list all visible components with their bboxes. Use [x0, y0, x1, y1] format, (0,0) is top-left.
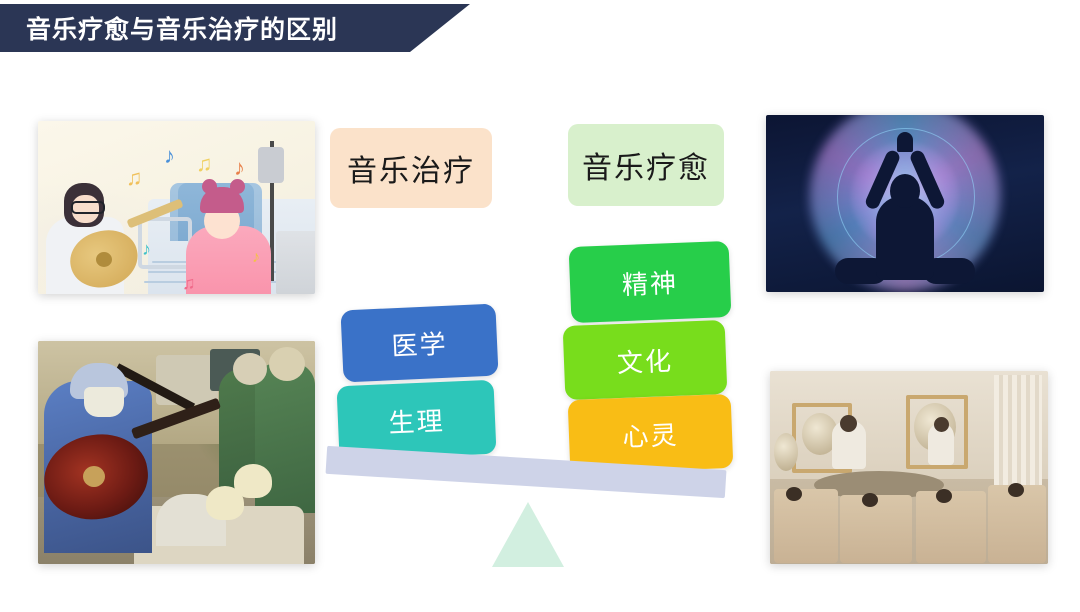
block-spirit: 精神 [569, 241, 732, 323]
music-note-icon: ♪ [252, 249, 260, 267]
glasses-icon [71, 201, 105, 214]
music-note-icon: ♫ [182, 273, 196, 294]
guitar-sound-hole [83, 466, 105, 487]
participant-head [936, 489, 952, 503]
meditation-canvas [766, 115, 1044, 292]
page-title: 音乐疗愈与音乐治疗的区别 [26, 10, 338, 46]
sound-healer-head [840, 415, 857, 432]
participant-mat [840, 495, 912, 563]
surgeon-head [269, 347, 305, 381]
music-note-icon: ♪ [164, 143, 175, 169]
header-card-music-healing: 音乐疗愈 [568, 124, 724, 206]
iv-bag [258, 147, 284, 183]
image-sound-bath-session [770, 371, 1048, 564]
guitar-sound-hole [96, 252, 112, 267]
operating-room-canvas [38, 341, 315, 564]
assistant-head [934, 417, 949, 432]
sound-bath-canvas [770, 371, 1048, 564]
music-note-icon: ♪ [142, 239, 151, 260]
participant-mat [774, 489, 838, 563]
face-mask-icon [84, 387, 124, 417]
music-note-icon: ♫ [126, 165, 143, 191]
image-operating-room-guitar [38, 341, 315, 564]
music-note-icon: ♫ [196, 151, 213, 177]
surgical-glove [234, 464, 272, 498]
participant-mat [916, 491, 986, 563]
header-card-music-treatment: 音乐治疗 [330, 128, 492, 208]
block-medicine: 医学 [340, 304, 498, 383]
hospital-illustration-canvas: ♪ ♫ ♫ ♪ ♪ ♫ ♪ [38, 121, 315, 294]
balance-fulcrum-triangle [492, 502, 564, 567]
window-curtain [994, 375, 1042, 487]
block-culture: 文化 [563, 320, 728, 400]
meditator-hands-namaste [897, 132, 913, 152]
surgeon-head [233, 353, 267, 385]
comparison-balance-diagram: 音乐治疗 音乐疗愈 医学 生理 精神 文化 心灵 [320, 110, 760, 590]
meditator-head [890, 174, 920, 208]
participant-head [862, 493, 878, 507]
image-meditation-energy [766, 115, 1044, 292]
image-hospital-music-therapy: ♪ ♫ ♫ ♪ ♪ ♫ ♪ [38, 121, 315, 294]
meditator-torso [876, 196, 934, 280]
participant-head [1008, 483, 1024, 497]
slide-title-banner: 音乐疗愈与音乐治疗的区别 [0, 4, 470, 52]
bedside-cabinet [276, 231, 315, 294]
participant-head [786, 487, 802, 501]
music-note-icon: ♪ [234, 155, 245, 181]
small-gong-icon [774, 433, 798, 471]
